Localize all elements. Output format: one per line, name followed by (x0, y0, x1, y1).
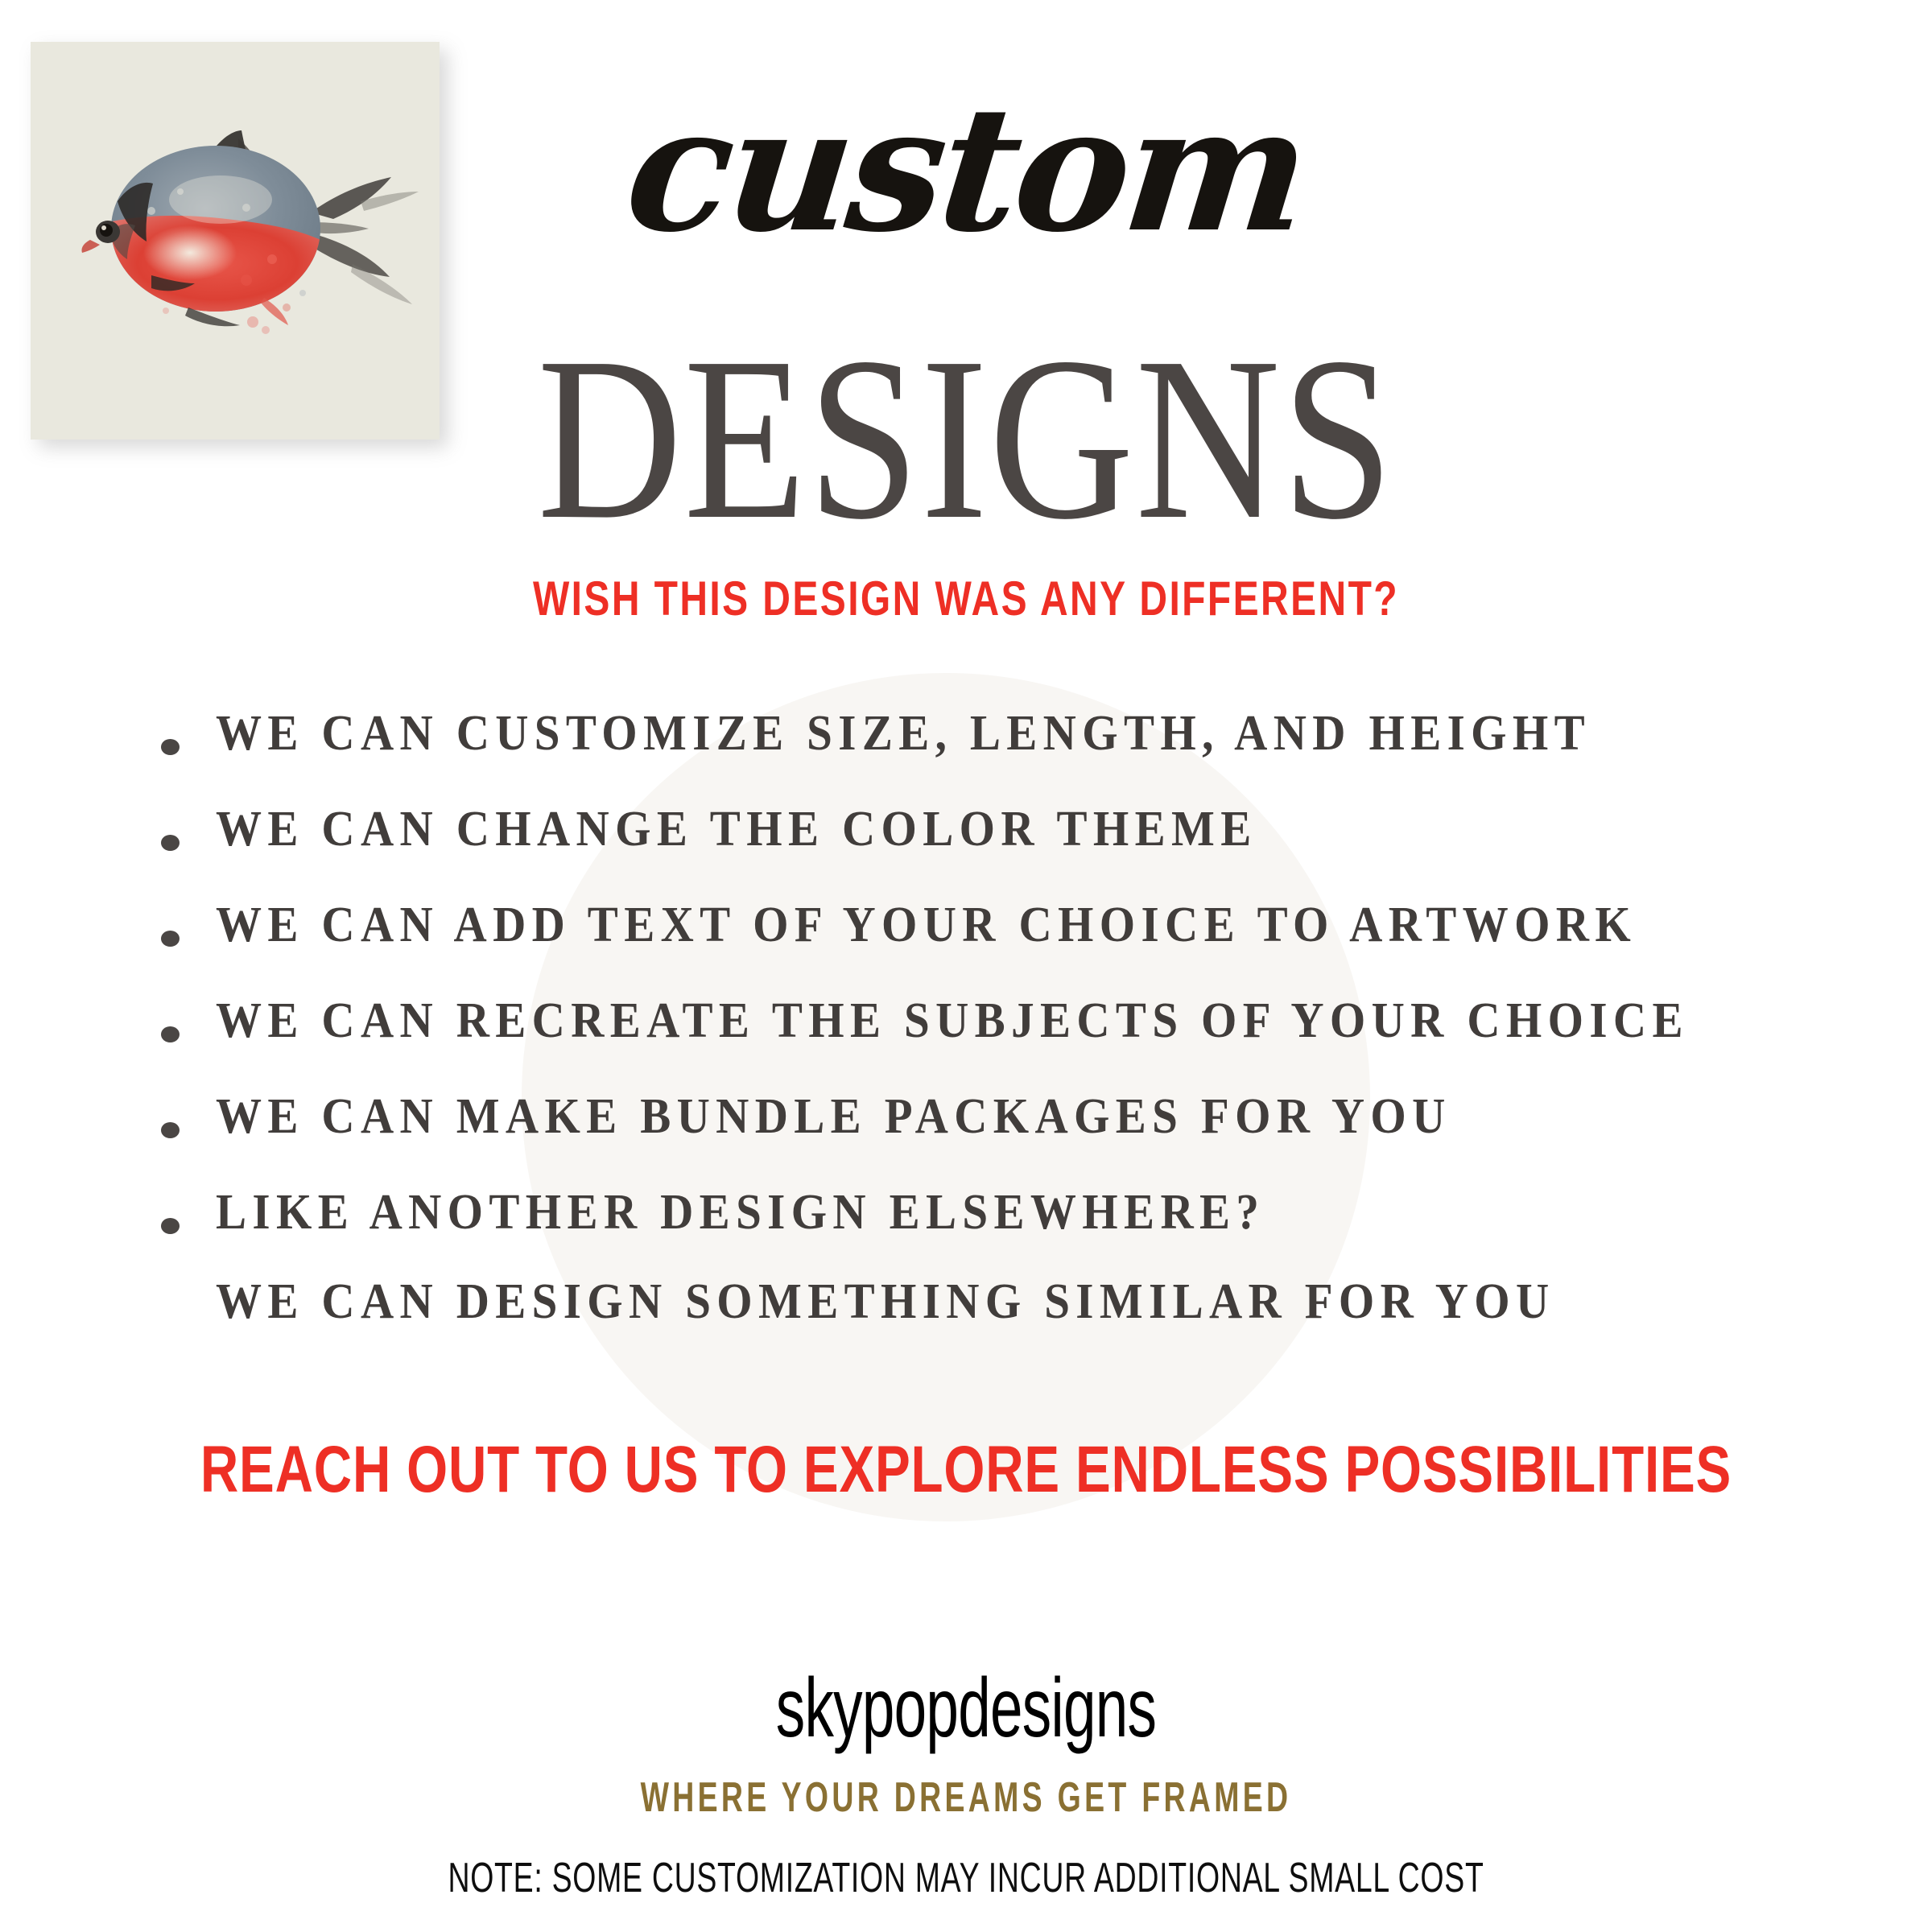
list-item-label: WE CAN CUSTOMIZE SIZE, LENGTH, AND HEIGH… (216, 708, 1591, 758)
feature-list: WE CAN CUSTOMIZE SIZE, LENGTH, AND HEIGH… (161, 708, 1884, 1283)
bullet-dot-icon (161, 835, 180, 851)
bullet-dot-icon (161, 1218, 180, 1234)
list-item: WE CAN CHANGE THE COLOR THEME (161, 804, 1884, 900)
script-word-custom: custom (0, 84, 1932, 256)
brand-slogan: WHERE YOUR DREAMS GET FRAMED (270, 1777, 1662, 1818)
list-item: LIKE ANOTHER DESIGN ELSEWHERE? (161, 1187, 1884, 1283)
list-item-label: WE CAN MAKE BUNDLE PACKAGES FOR YOU (216, 1092, 1451, 1141)
list-item: WE CAN RECREATE THE SUBJECTS OF YOUR CHO… (161, 996, 1884, 1092)
tagline: WISH THIS DESIGN WAS ANY DIFFERENT? (193, 575, 1739, 623)
list-item: WE CAN MAKE BUNDLE PACKAGES FOR YOU (161, 1092, 1884, 1187)
list-item-label: LIKE ANOTHER DESIGN ELSEWHERE? (216, 1187, 1265, 1237)
brand-logo-text: skypopdesigns (290, 1666, 1642, 1750)
list-item-label: WE CAN CHANGE THE COLOR THEME (216, 804, 1257, 854)
list-item: WE CAN ADD TEXT OF YOUR CHOICE TO ARTWOR… (161, 900, 1884, 996)
call-to-action: REACH OUT TO US TO EXPLORE ENDLESS POSSI… (193, 1437, 1739, 1503)
list-item-label: WE CAN ADD TEXT OF YOUR CHOICE TO ARTWOR… (216, 900, 1637, 950)
footer-note: NOTE: SOME CUSTOMIZATION MAY INCUR ADDIT… (270, 1857, 1662, 1899)
bullet-dot-icon (161, 1122, 180, 1138)
bullet-dot-icon (161, 1026, 180, 1042)
list-item-continuation-label: WE CAN DESIGN SOMETHING SIMILAR FOR YOU (216, 1277, 1555, 1327)
poster-canvas: custom DESIGNS WISH THIS DESIGN WAS ANY … (0, 0, 1932, 1932)
bullet-dot-icon (161, 739, 180, 755)
list-item-label: WE CAN RECREATE THE SUBJECTS OF YOUR CHO… (216, 996, 1689, 1046)
list-item: WE CAN CUSTOMIZE SIZE, LENGTH, AND HEIGH… (161, 708, 1884, 804)
page-title: DESIGNS (135, 322, 1797, 555)
bullet-dot-icon (161, 931, 180, 947)
